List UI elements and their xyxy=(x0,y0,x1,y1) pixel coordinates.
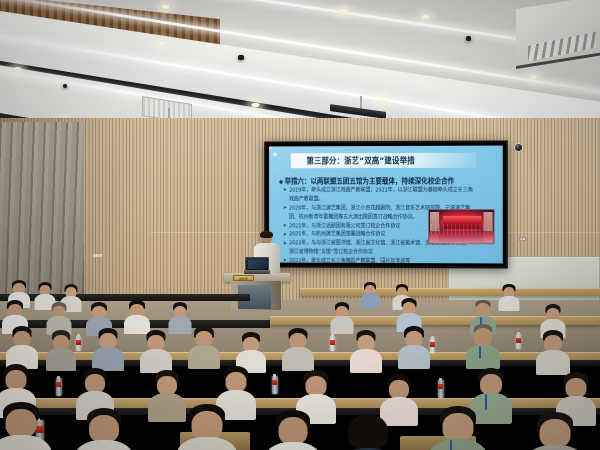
person-body xyxy=(466,345,500,369)
podium-nameplate-text: 报告席 xyxy=(234,276,253,282)
audience-member xyxy=(236,332,266,370)
downlight-icon xyxy=(156,40,167,46)
laptop-screen[interactable] xyxy=(245,257,269,271)
audience-member-foreground xyxy=(0,402,52,450)
speaker-mount xyxy=(360,96,362,109)
slide-title-bar: 第三部分：浙艺“双高”建设举措 xyxy=(291,153,477,169)
person-head xyxy=(474,328,492,346)
audience-member xyxy=(282,328,314,368)
list-item: ➤ 浙江省博物馆“五馆”签订校企合作协议 xyxy=(283,249,498,256)
downlight-icon xyxy=(12,66,23,72)
bullet-line: 2021年，与杭州演艺集团签署战略合作协议 xyxy=(289,231,385,238)
audience-member xyxy=(536,330,570,372)
audience-member-foreground xyxy=(264,410,322,450)
person-body xyxy=(428,439,488,450)
audience-member-foreground xyxy=(176,404,238,450)
slide-title: 第三部分：浙艺“双高”建设举措 xyxy=(291,154,415,167)
arrow-bullet-icon: ➤ xyxy=(283,205,287,211)
person-head xyxy=(226,372,247,392)
water-bottle[interactable] xyxy=(76,336,81,351)
list-item: ➤ 戏曲产教联盟。 xyxy=(283,196,498,203)
photo-seats xyxy=(431,224,494,234)
wall-outlet-icon xyxy=(92,253,103,258)
audience-member xyxy=(466,324,500,366)
slide-subtitle: ◆举措六：以两联盟五团五馆为主要载体，持续深化校企合作 xyxy=(279,174,497,185)
bullet-line: 2022年，牵头成立长三角舞蹈产教联盟、园长及非遗等 xyxy=(289,258,410,264)
list-item: ➤ 2019年，牵头成立浙江戏曲产教联盟；2021年，以浙江联盟为基础牵头成立长… xyxy=(283,187,498,194)
audience-member xyxy=(360,282,380,306)
person-head xyxy=(566,378,587,398)
desk xyxy=(300,288,600,296)
person-head xyxy=(476,303,490,317)
arrow-bullet-icon: ➤ xyxy=(283,187,287,193)
person-head xyxy=(540,419,571,448)
list-item: ➤ 2022年，牵头成立长三角舞蹈产教联盟、园长及非遗等 xyxy=(283,258,498,264)
person-head xyxy=(192,411,223,440)
slide-content: 第三部分：浙艺“双高”建设举措 ◆举措六：以两联盟五团五馆为主要载体，持续深化校… xyxy=(269,146,503,264)
downlight-icon xyxy=(420,14,431,20)
water-bottle[interactable] xyxy=(516,334,521,349)
bullet-line: 团、杭州新青年歌舞团等五大演出院团签订战略合作协议。 xyxy=(289,214,418,221)
ceiling xyxy=(0,0,600,132)
ceiling-fitting-icon xyxy=(63,84,67,88)
audience-member xyxy=(330,302,354,332)
person-head xyxy=(443,413,474,442)
downlight-icon xyxy=(378,96,389,102)
speaker-hair xyxy=(260,231,273,238)
laptop-keyboard[interactable] xyxy=(244,270,270,274)
person-body xyxy=(361,293,380,308)
diamond-bullet-icon: ◆ xyxy=(279,179,283,186)
audience-member xyxy=(188,326,220,366)
water-bottle[interactable] xyxy=(438,380,444,398)
water-bottle[interactable] xyxy=(430,338,435,353)
person-head xyxy=(306,376,327,396)
bullet-line: 2019年，牵头成立浙江戏曲产教联盟；2021年，以浙江联盟为基础牵头成立长三角 xyxy=(289,187,473,194)
bullet-line: 戏曲产教联盟。 xyxy=(289,196,323,203)
audience xyxy=(0,286,600,450)
lanyard xyxy=(450,440,452,450)
ceiling-fitting-icon xyxy=(466,36,471,41)
audience-member xyxy=(398,326,430,366)
person-head xyxy=(279,417,308,445)
person-body xyxy=(398,345,430,369)
downlight-icon xyxy=(338,8,349,14)
ceiling-fitting-icon xyxy=(238,55,244,60)
person-body xyxy=(264,442,322,450)
person-body xyxy=(0,435,52,450)
person-head xyxy=(6,370,27,390)
water-bottle[interactable] xyxy=(56,378,62,396)
audience-member-foreground xyxy=(340,414,396,450)
ac-vent-corner-icon xyxy=(516,0,600,69)
water-bottle[interactable] xyxy=(272,376,278,394)
arrow-bullet-icon: ➤ xyxy=(283,231,287,237)
person-body xyxy=(499,296,520,311)
person-body xyxy=(282,347,314,371)
lanyard xyxy=(479,346,481,359)
audience-member xyxy=(46,330,76,368)
audience-member-foreground xyxy=(428,406,488,450)
slide-photo xyxy=(428,209,495,244)
audience-member xyxy=(350,330,382,370)
person-body xyxy=(524,445,586,450)
wall-outlet-icon xyxy=(519,237,526,241)
audience-member-foreground xyxy=(524,412,586,450)
dome-camera-icon xyxy=(514,143,523,152)
downlight-icon xyxy=(528,74,539,80)
person-body xyxy=(176,437,238,450)
bullet-line: 2021年，与浙江话剧团有限公司签订校企合作协议 xyxy=(289,222,400,229)
audience-member xyxy=(92,328,124,368)
person-head xyxy=(6,409,37,438)
person-body xyxy=(350,349,382,373)
person-body xyxy=(74,440,134,450)
audience-member-foreground xyxy=(74,408,134,450)
audience-member xyxy=(124,300,150,332)
water-bottle[interactable] xyxy=(330,336,335,351)
arrow-bullet-icon: ➤ xyxy=(283,240,287,246)
slide-subtitle-text: 举措六：以两联盟五团五馆为主要载体，持续深化校企合作 xyxy=(285,177,455,186)
bullet-line: 浙江省博物馆“五馆”签订校企合作协议 xyxy=(289,249,373,256)
person-head xyxy=(89,415,119,443)
audience-member xyxy=(6,326,38,366)
downlight-icon xyxy=(160,4,171,10)
lecture-hall-photo: 第三部分：浙艺“双高”建设举措 ◆举措六：以两联盟五团五馆为主要载体，持续深化校… xyxy=(0,0,600,450)
podium-nameplate: 报告席 xyxy=(233,275,254,281)
person-hair-long xyxy=(348,414,388,448)
audience-member xyxy=(498,284,520,310)
arrow-bullet-icon: ➤ xyxy=(283,222,287,228)
projection-screen[interactable]: 第三部分：浙艺“双高”建设举措 ◆举措六：以两联盟五团五馆为主要载体，持续深化校… xyxy=(264,140,508,268)
audience-member xyxy=(140,330,172,370)
person-body xyxy=(46,348,76,371)
person-head xyxy=(480,374,502,395)
downlight-icon xyxy=(250,102,261,108)
